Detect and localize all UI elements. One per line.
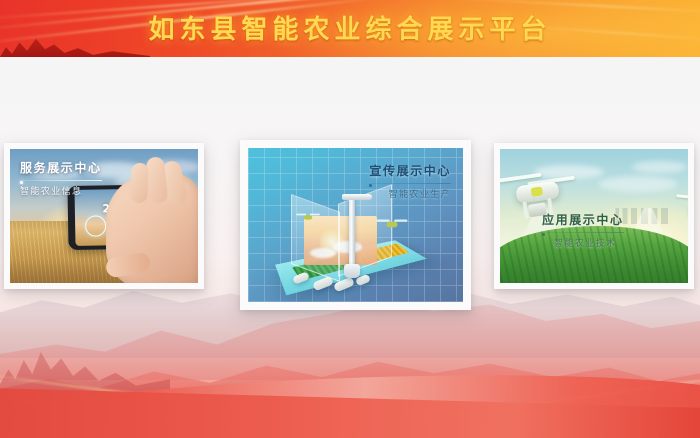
caption-rule [542,232,624,233]
caption-rule [369,183,451,184]
hud-ring-icon [85,216,106,237]
card-promotion-image: 宣传展示中心 智能农业生产 [248,148,463,302]
page-root: 如东县智能农业综合展示平台 26° [0,0,700,438]
drone-body [387,222,398,228]
thumb [105,251,152,278]
card-service-caption: 服务展示中心 智能农业信息 [20,159,102,197]
header-band: 如东县智能农业综合展示平台 [0,0,700,57]
card-application-subtitle: 智能农业技术 [542,236,624,249]
cloud-icon [598,176,678,192]
card-application[interactable]: 应用展示中心 智能农业技术 [494,143,694,289]
caption-dot-icon [542,233,545,236]
sensor-pole [349,196,355,267]
drone-icon [299,213,318,221]
caption-rule [20,180,102,181]
drone-body [304,215,313,219]
drone-icon [380,220,404,230]
card-application-image: 应用展示中心 智能农业技术 [500,149,688,283]
finger [130,163,148,204]
card-application-caption: 应用展示中心 智能农业技术 [542,211,624,249]
hand [106,173,198,283]
page-title: 如东县智能农业综合展示平台 [0,9,700,46]
card-service-image: 26° 服务展示中心 智能农业信息 [10,149,198,283]
card-promotion-caption: 宣传展示中心 智能农业生产 [369,162,451,200]
card-promotion-title: 宣传展示中心 [369,162,451,179]
card-promotion-subtitle: 智能农业生产 [369,187,451,200]
card-service[interactable]: 26° 服务展示中心 智能农业信息 [4,143,204,289]
cloud-icon [632,161,687,173]
sensor-pole-arm [342,194,372,200]
caption-dot-icon [20,181,23,184]
card-application-title: 应用展示中心 [542,211,624,228]
card-promotion[interactable]: 宣传展示中心 智能农业生产 [240,140,471,310]
rotor [310,213,320,215]
sensor-pole-base [344,264,360,278]
card-service-title: 服务展示中心 [20,159,102,176]
card-service-subtitle: 智能农业信息 [20,184,102,197]
